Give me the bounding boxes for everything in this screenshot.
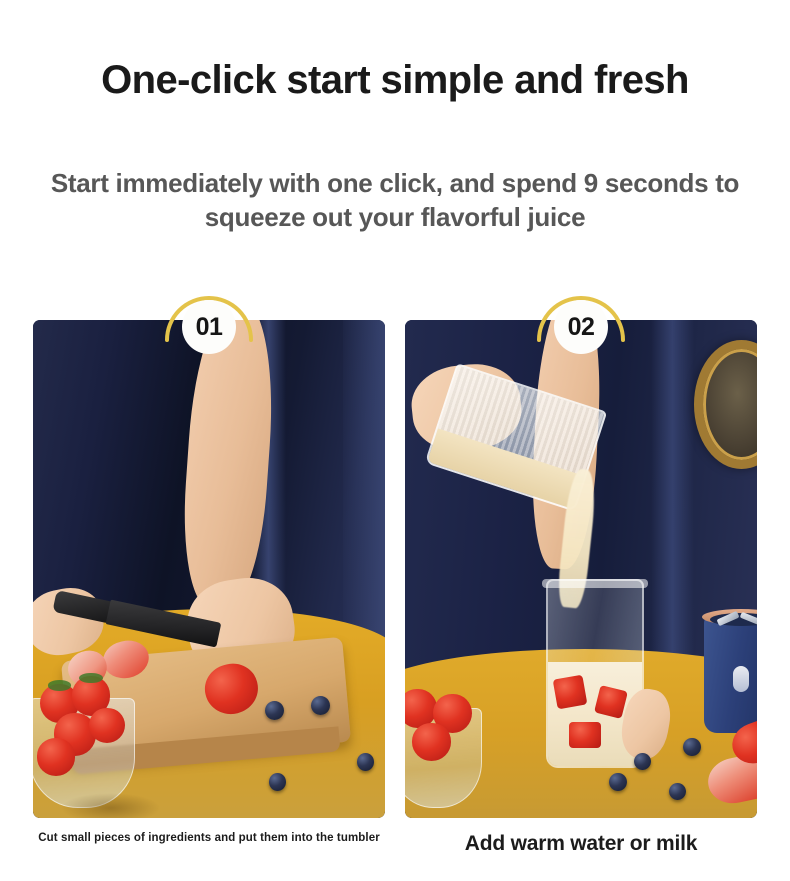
bowl-shadow — [61, 793, 160, 818]
curtain-fold — [651, 320, 693, 689]
bowl-strawberry-4 — [89, 708, 124, 743]
page-headline: One-click start simple and fresh — [0, 58, 790, 102]
steps-container: 01 — [0, 284, 790, 881]
bowl-strawberry-5 — [37, 738, 76, 775]
curtain-fold-right — [343, 320, 385, 649]
bowl-strawberry-3 — [412, 723, 451, 760]
scene-pouring-milk — [405, 320, 757, 818]
strawberry-leaf — [48, 680, 71, 690]
page-subheadline: Start immediately with one click, and sp… — [30, 166, 760, 235]
step-badge-02: 02 — [533, 284, 629, 358]
step-photo-02 — [405, 320, 757, 818]
step-number-01: 01 — [182, 300, 236, 354]
blueberry-4 — [669, 783, 686, 800]
blender-base — [704, 614, 757, 734]
blueberry-3 — [683, 738, 701, 756]
product-feature-page: One-click start simple and fresh Start i… — [0, 0, 790, 881]
blueberry-1 — [609, 773, 627, 791]
step-photo-01 — [33, 320, 385, 818]
step-number-02: 02 — [554, 300, 608, 354]
blueberry-2 — [311, 696, 330, 715]
step-badge-01: 01 — [161, 284, 257, 358]
jar-rim — [542, 579, 648, 588]
scene-cutting-strawberries — [33, 320, 385, 818]
step-caption-01: Cut small pieces of ingredients and put … — [27, 832, 391, 844]
blender-power-button[interactable] — [733, 666, 749, 692]
jar-strawberry-1 — [553, 675, 588, 709]
strawberry-leaf — [79, 673, 102, 683]
blueberry-2 — [634, 753, 651, 770]
step-caption-02: Add warm water or milk — [399, 832, 763, 856]
jar-strawberry-3 — [569, 722, 601, 748]
